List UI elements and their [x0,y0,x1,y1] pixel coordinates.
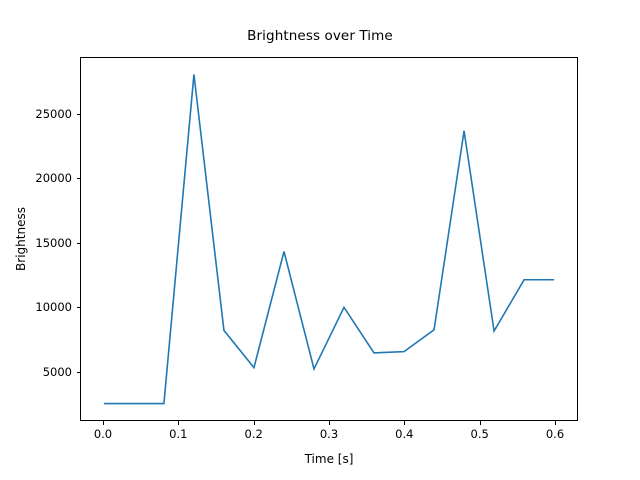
y-tick-label: 10000 [0,300,72,314]
line-chart-svg [81,58,577,420]
x-tick-label: 0.5 [471,427,489,441]
x-tick-mark [555,421,556,425]
y-tick-mark [77,372,81,373]
x-tick-mark [404,421,405,425]
x-tick-mark [178,421,179,425]
x-tick-label: 0.4 [395,427,413,441]
y-tick-mark [77,243,81,244]
y-tick-mark [77,307,81,308]
y-tick-label: 5000 [0,365,72,379]
y-tick-label: 20000 [0,171,72,185]
y-tick-mark [77,114,81,115]
x-tick-mark [329,421,330,425]
chart-figure: Brightness over Time Time [s] Brightness… [0,0,640,480]
chart-title: Brightness over Time [0,28,640,44]
y-tick-label: 25000 [0,107,72,121]
y-tick-mark [77,178,81,179]
x-tick-mark [103,421,104,425]
brightness-line [104,74,554,403]
y-tick-label: 15000 [0,236,72,250]
x-tick-label: 0.1 [169,427,187,441]
x-tick-mark [480,421,481,425]
x-axis-label: Time [s] [80,452,578,466]
x-tick-label: 0.6 [546,427,564,441]
x-tick-mark [254,421,255,425]
x-tick-label: 0.0 [94,427,112,441]
x-tick-label: 0.2 [245,427,263,441]
x-tick-label: 0.3 [320,427,338,441]
plot-area [80,57,578,421]
